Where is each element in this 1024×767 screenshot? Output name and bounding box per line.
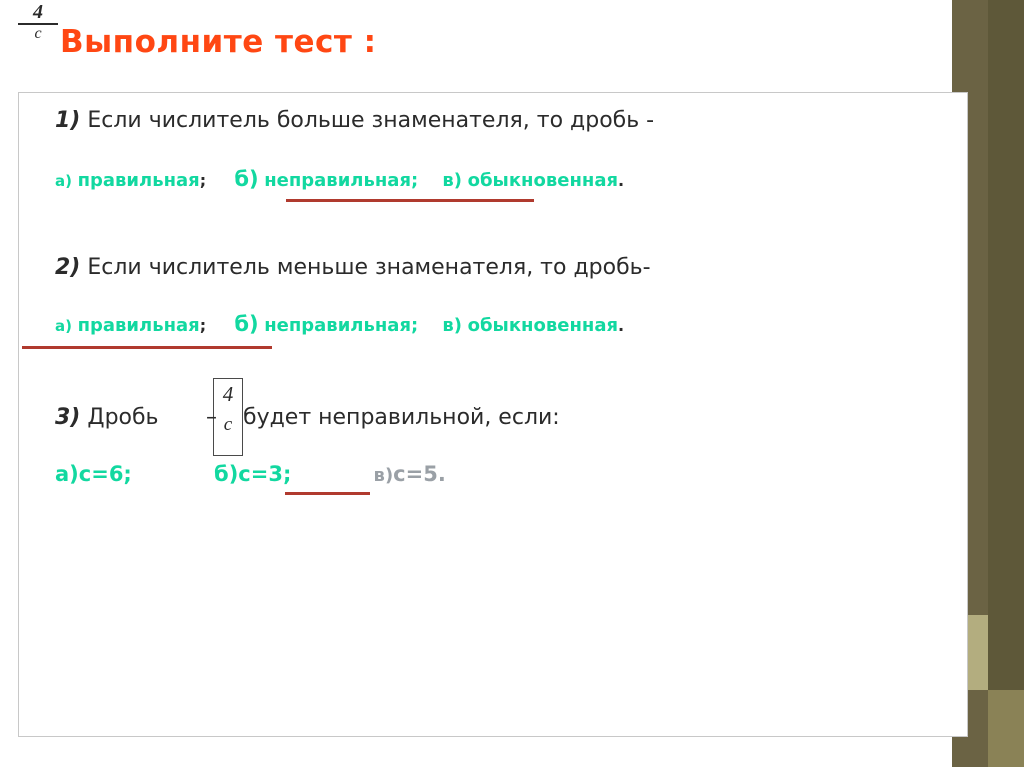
question-1: 1) Если числитель больше знаменателя, то… — [55, 108, 654, 133]
answer-3b-label: б) — [214, 462, 238, 486]
answer-2b-text: неправильная; — [264, 315, 418, 336]
underline-answer-1b — [286, 199, 534, 202]
answer-1c-label: в) — [442, 170, 462, 191]
question-3-fraction-numerator: 4 — [223, 382, 234, 406]
answer-1b-text: неправильная; — [264, 170, 418, 191]
answer-2c-label: в) — [442, 315, 462, 336]
question-1-text: Если числитель больше знаменателя, то др… — [87, 108, 654, 133]
answer-1a-punct: ; — [200, 171, 206, 190]
answer-1c[interactable]: в) обыкновенная — [442, 170, 618, 191]
question-3-fraction-denominator: c — [214, 415, 242, 435]
answer-3b-text: c=3; — [238, 462, 291, 486]
corner-fraction: 4 c — [18, 2, 58, 42]
question-1-number: 1) — [55, 108, 80, 133]
decor-bar-olive-right — [988, 0, 1024, 690]
answer-1a-text: правильная — [78, 170, 200, 191]
underline-answer-3b — [285, 492, 370, 495]
question-3-number: 3) — [55, 405, 80, 430]
answer-1c-text: обыкновенная — [468, 170, 618, 191]
answer-3b[interactable]: б)c=3; — [214, 462, 291, 486]
page-title: Выполните тест : — [60, 24, 377, 60]
answer-2a-text: правильная — [78, 315, 200, 336]
answer-1c-punct: . — [618, 171, 624, 190]
slide: 4 c Выполните тест : 1) Если числитель б… — [0, 0, 1024, 767]
answer-3a-text: c=6; — [79, 462, 132, 486]
answer-2c-text: обыкновенная — [468, 315, 618, 336]
answer-3c-label: в) — [374, 465, 394, 486]
question-3-text-after: будет неправильной, если: — [243, 405, 560, 430]
answer-3a-label: а) — [55, 462, 79, 486]
answer-2b[interactable]: б) неправильная; — [234, 312, 418, 336]
corner-fraction-denominator: c — [18, 26, 58, 42]
question-2-answers: а) правильная; б) неправильная; в) обыкн… — [55, 312, 624, 336]
answer-1a[interactable]: а) правильная — [55, 170, 200, 191]
question-2: 2) Если числитель меньше знаменателя, то… — [55, 255, 651, 280]
question-3-text-before: Дробь — [87, 405, 158, 430]
answer-2a-punct: ; — [200, 316, 206, 335]
answer-2c-punct: . — [618, 316, 624, 335]
question-3-answers: а)c=6; б)c=3; в)c=5. — [55, 462, 446, 486]
answer-3c-text: c=5. — [393, 462, 446, 486]
question-3-fraction: 4 c — [214, 379, 242, 435]
question-2-text: Если числитель меньше знаменателя, то др… — [87, 255, 650, 280]
decor-bar-olive-light-bottom — [988, 690, 1024, 767]
underline-answer-2a — [22, 346, 272, 349]
answer-1a-label: а) — [55, 172, 72, 190]
answer-2a[interactable]: а) правильная — [55, 315, 200, 336]
question-3-fraction-box: 4 c — [213, 378, 243, 456]
answer-3a[interactable]: а)c=6; — [55, 462, 132, 486]
question-3: 3) Дробь — [55, 405, 159, 430]
answer-2a-label: а) — [55, 317, 72, 335]
question-2-number: 2) — [55, 255, 80, 280]
answer-3c[interactable]: в)c=5. — [374, 462, 446, 486]
answer-1b[interactable]: б) неправильная; — [234, 167, 418, 191]
question-3-fraction-dash: – — [206, 405, 217, 430]
answer-2b-label: б) — [234, 312, 258, 336]
answer-2c[interactable]: в) обыкновенная — [442, 315, 618, 336]
question-3-text-after-wrap: будет неправильной, если: — [243, 405, 560, 430]
question-1-answers: а) правильная; б) неправильная; в) обыкн… — [55, 167, 624, 191]
answer-1b-label: б) — [234, 167, 258, 191]
corner-fraction-numerator: 4 — [18, 2, 58, 22]
